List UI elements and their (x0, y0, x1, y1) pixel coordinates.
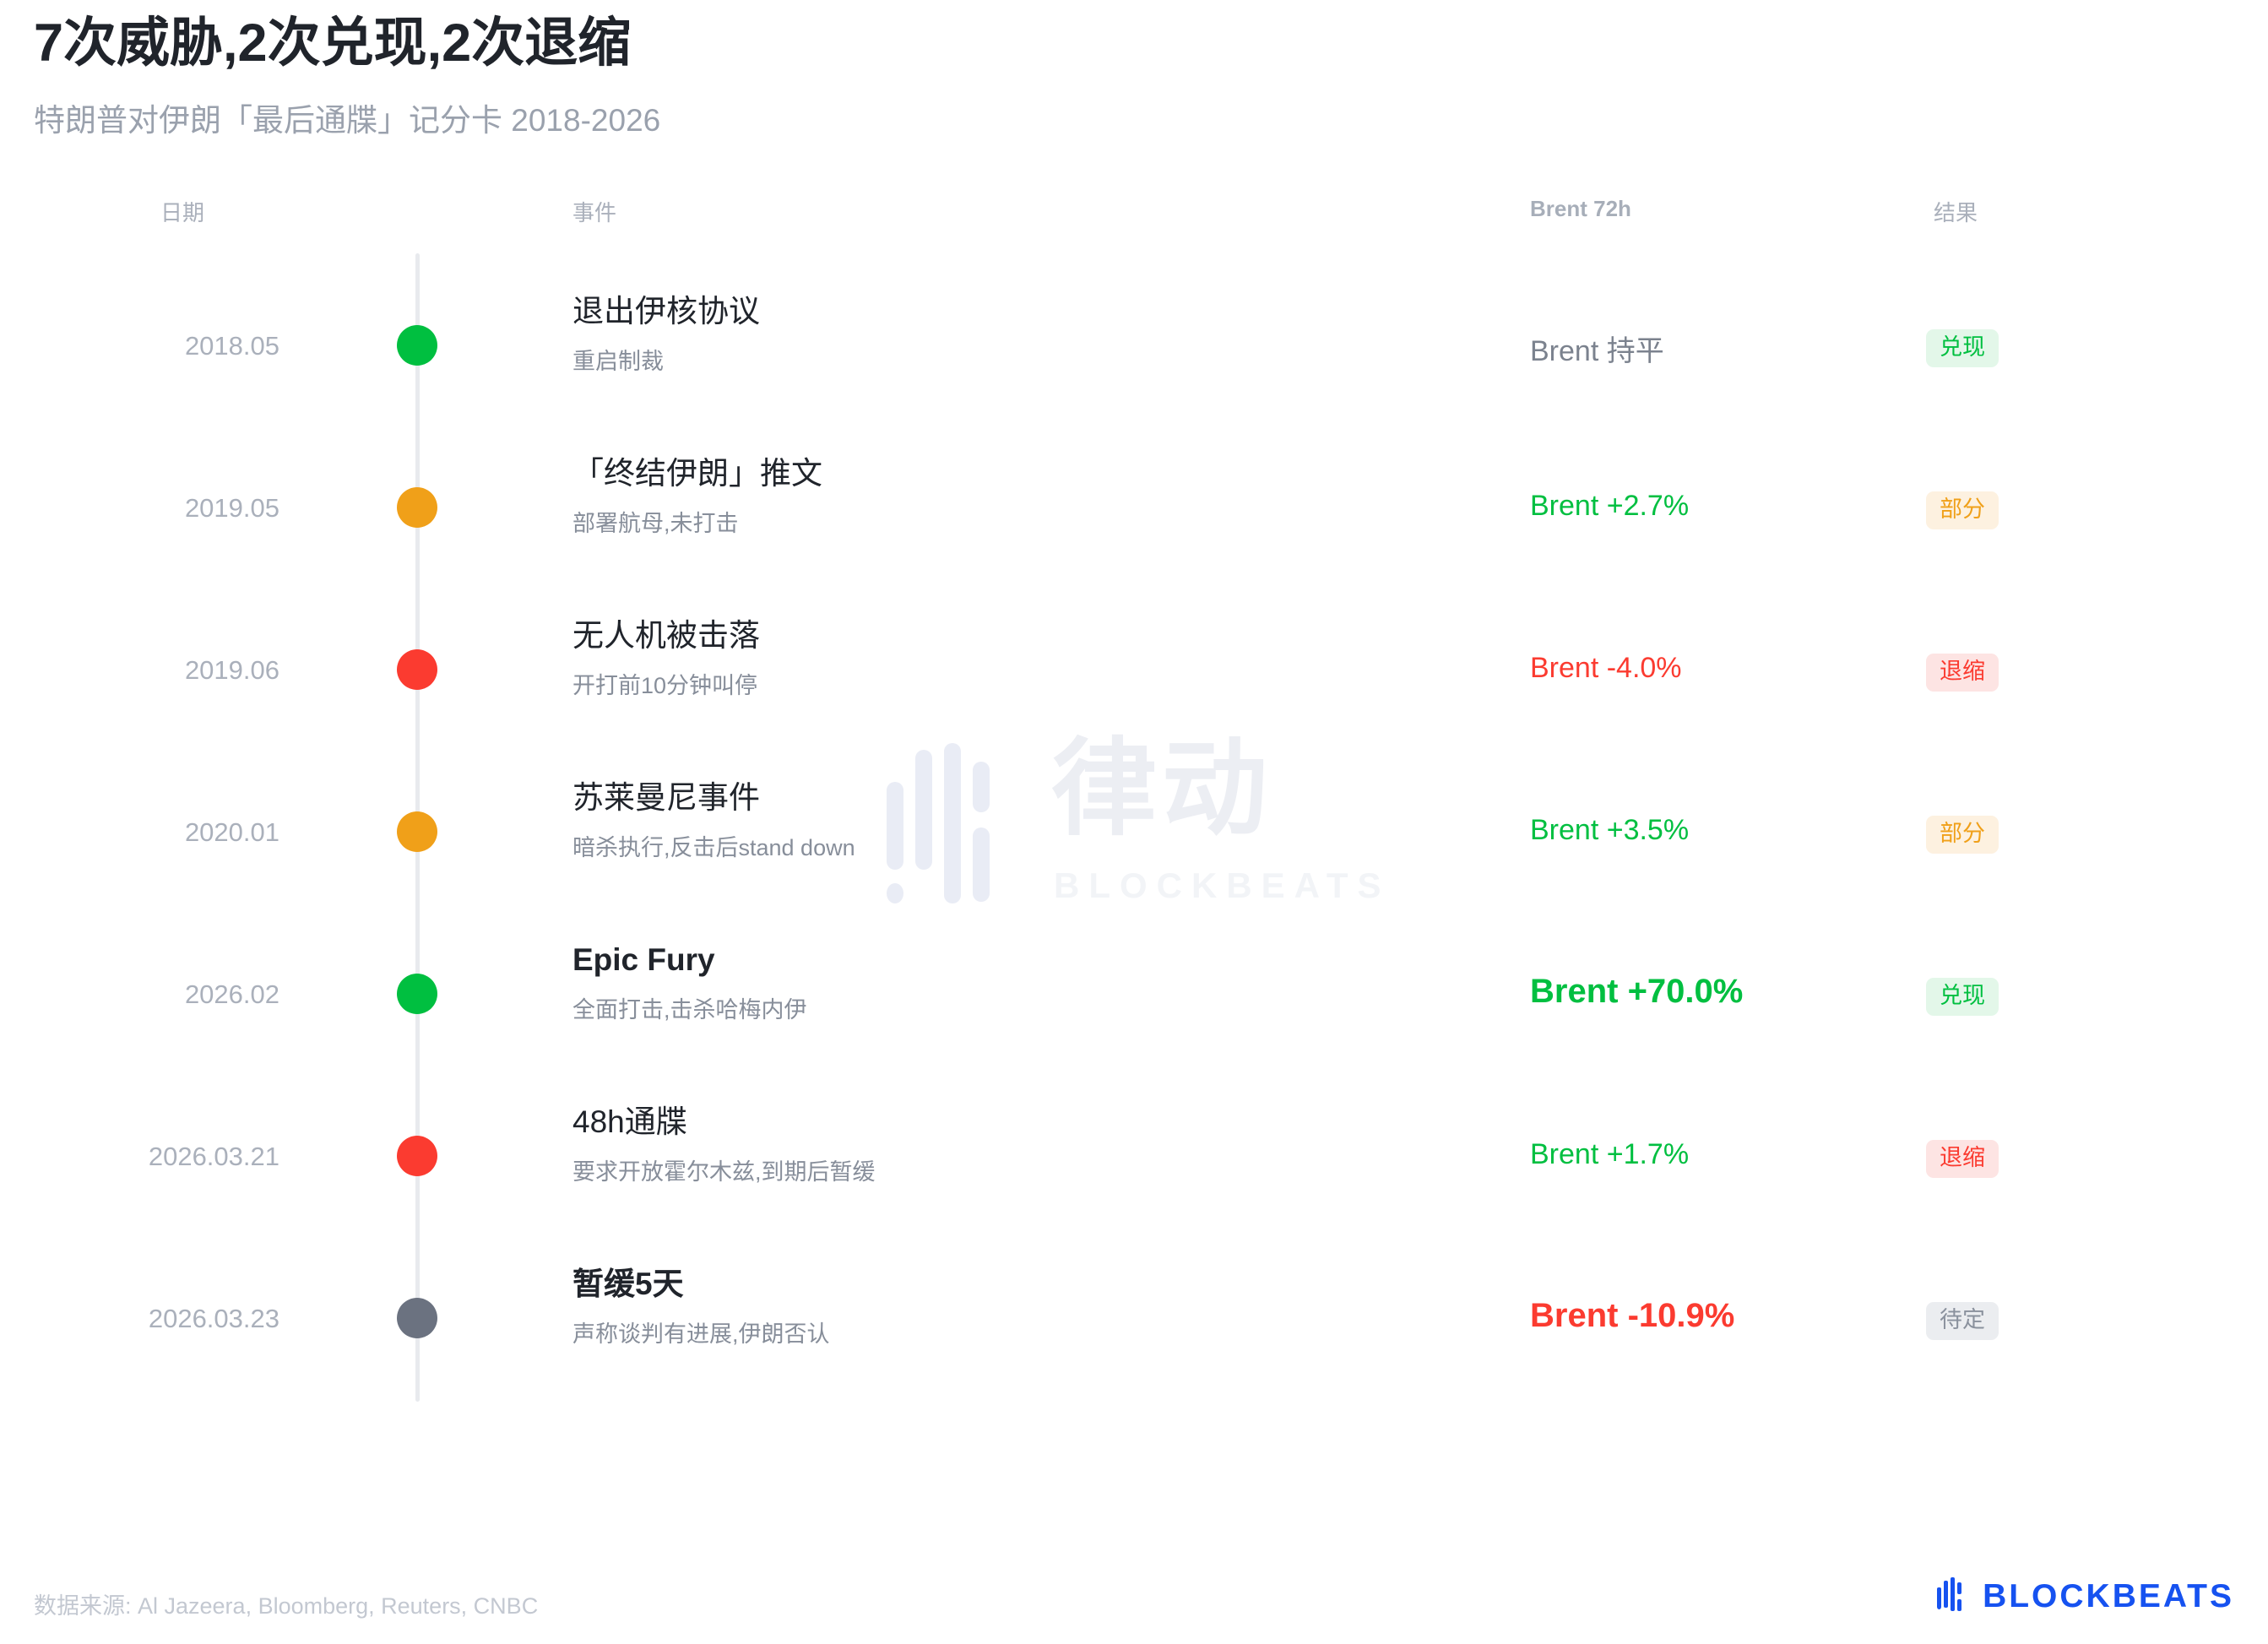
page-title: 7次威胁,2次兑现,2次退缩 (34, 15, 2060, 71)
timeline-dot-red (397, 649, 437, 690)
row-event-subtitle: 部署航母,未打击 (572, 493, 1459, 538)
row-date: 2020.01 (185, 817, 279, 848)
blockbeats-bars-icon (1937, 1577, 1974, 1614)
table-row: 2026.03.23暂缓5天声称谈判有进展,伊朗否认Brent -10.9%待定 (0, 1245, 2268, 1407)
table-row: 2019.05「终结伊朗」推文部署航母,未打击Brent +2.7%部分 (0, 434, 2268, 596)
row-date: 2018.05 (185, 331, 279, 361)
status-badge: 退缩 (1926, 1140, 1999, 1178)
status-badge: 兑现 (1926, 978, 1999, 1016)
row-event-title: 退出伊核协议 (572, 292, 1459, 331)
row-event-subtitle: 开打前10分钟叫停 (572, 655, 1459, 700)
header: 7次威胁,2次兑现,2次退缩 特朗普对伊朗「最后通牒」记分卡 2018-2026 (34, 15, 2060, 140)
page-subtitle: 特朗普对伊朗「最后通牒」记分卡 2018-2026 (34, 71, 2060, 140)
column-header-brent: Brent 72h (1530, 196, 1631, 222)
table-row: 2026.02Epic Fury全面打击,击杀哈梅内伊Brent +70.0%兑… (0, 920, 2268, 1082)
status-badge: 待定 (1926, 1302, 1999, 1340)
status-badge: 部分 (1926, 491, 1999, 529)
row-date: 2019.05 (185, 493, 279, 524)
row-event: 「终结伊朗」推文部署航母,未打击 (572, 454, 1459, 538)
column-header-result: 结果 (1934, 196, 1978, 227)
row-event: 苏莱曼尼事件暗杀执行,反击后stand down (572, 779, 1459, 862)
row-event: 退出伊核协议重启制裁 (572, 292, 1459, 376)
row-date: 2026.03.23 (149, 1304, 279, 1334)
column-header-date: 日期 (160, 196, 204, 227)
row-event-subtitle: 要求开放霍尔木兹,到期后暂缓 (572, 1142, 1459, 1186)
timeline-dot-green (397, 974, 437, 1014)
timeline-dot-green (397, 325, 437, 366)
blockbeats-logo: BLOCKBEATS (1937, 1577, 2234, 1614)
row-event-title: 无人机被击落 (572, 616, 1459, 655)
row-brent-change: Brent +1.7% (1530, 1138, 1689, 1171)
footer-source: 数据来源: Al Jazeera, Bloomberg, Reuters, CN… (34, 1587, 538, 1620)
row-date: 2019.06 (185, 655, 279, 686)
row-event: 暂缓5天声称谈判有进展,伊朗否认 (572, 1265, 1459, 1348)
row-event-title: 苏莱曼尼事件 (572, 779, 1459, 817)
row-event-subtitle: 重启制裁 (572, 331, 1459, 376)
row-date: 2026.03.21 (149, 1142, 279, 1172)
row-date: 2026.02 (185, 979, 279, 1010)
status-badge: 兑现 (1926, 329, 1999, 367)
infographic-page: 7次威胁,2次兑现,2次退缩 特朗普对伊朗「最后通牒」记分卡 2018-2026… (0, 0, 2268, 1644)
row-event: 无人机被击落开打前10分钟叫停 (572, 616, 1459, 700)
row-event-title: 48h通牒 (572, 1103, 1459, 1142)
status-badge: 退缩 (1926, 654, 1999, 692)
row-event-title: 「终结伊朗」推文 (572, 454, 1459, 493)
timeline-rows: 2018.05退出伊核协议重启制裁Brent 持平兑现2019.05「终结伊朗」… (0, 272, 2268, 1407)
row-brent-change: Brent +2.7% (1530, 490, 1689, 523)
column-header-event: 事件 (572, 196, 616, 227)
row-event: 48h通牒要求开放霍尔木兹,到期后暂缓 (572, 1103, 1459, 1186)
row-event: Epic Fury全面打击,击杀哈梅内伊 (572, 941, 1459, 1024)
timeline-dot-orange (397, 811, 437, 852)
row-brent-change: Brent 持平 (1530, 328, 1664, 369)
row-brent-change: Brent -4.0% (1530, 652, 1682, 685)
row-brent-change: Brent +3.5% (1530, 814, 1689, 847)
row-event-subtitle: 声称谈判有进展,伊朗否认 (572, 1304, 1459, 1348)
row-event-subtitle: 暗杀执行,反击后stand down (572, 817, 1459, 862)
table-row: 2026.03.2148h通牒要求开放霍尔木兹,到期后暂缓Brent +1.7%… (0, 1082, 2268, 1245)
row-brent-change: Brent +70.0% (1530, 973, 1743, 1011)
table-row: 2018.05退出伊核协议重启制裁Brent 持平兑现 (0, 272, 2268, 434)
blockbeats-logo-text: BLOCKBEATS (1983, 1580, 2234, 1613)
table-row: 2019.06无人机被击落开打前10分钟叫停Brent -4.0%退缩 (0, 596, 2268, 758)
timeline-dot-red (397, 1136, 437, 1176)
row-event-title: 暂缓5天 (572, 1265, 1459, 1304)
row-event-title: Epic Fury (572, 941, 1459, 979)
timeline-dot-gray (397, 1298, 437, 1338)
status-badge: 部分 (1926, 816, 1999, 854)
table-row: 2020.01苏莱曼尼事件暗杀执行,反击后stand downBrent +3.… (0, 758, 2268, 920)
row-brent-change: Brent -10.9% (1530, 1297, 1734, 1335)
row-event-subtitle: 全面打击,击杀哈梅内伊 (572, 979, 1459, 1024)
column-headers: 日期 事件 Brent 72h 结果 (0, 196, 2268, 230)
timeline-dot-orange (397, 487, 437, 528)
